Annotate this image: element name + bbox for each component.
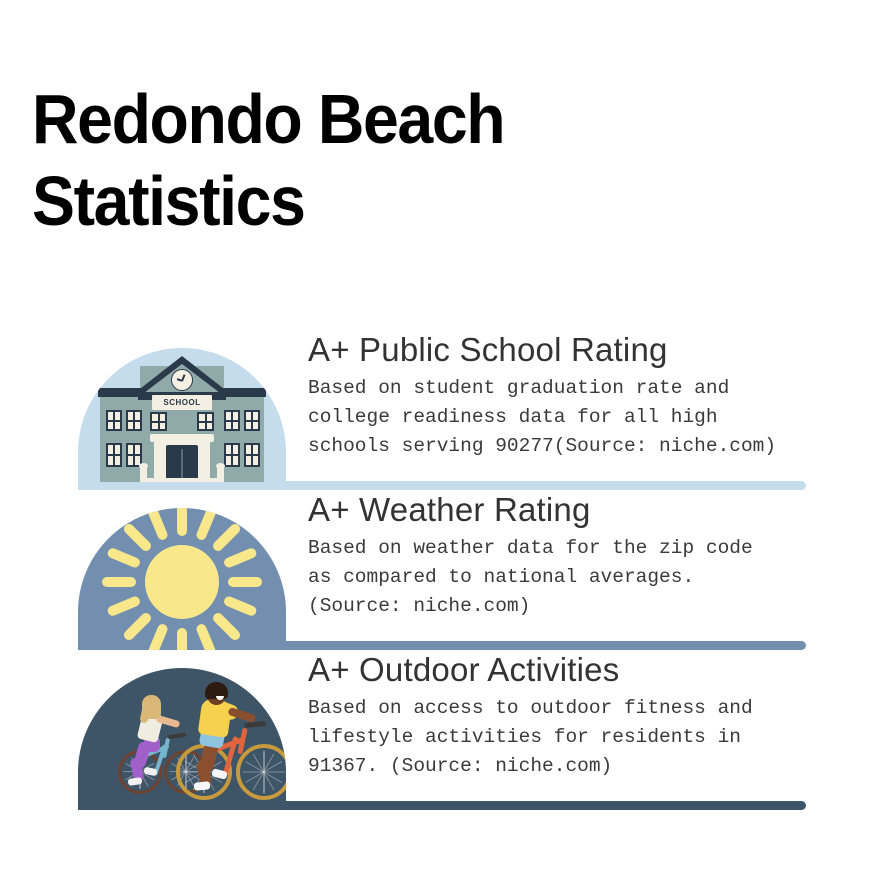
stat-description: Based on access to outdoor fitness and l… xyxy=(308,694,828,781)
page-title: Redondo Beach Statistics xyxy=(32,78,592,242)
sun-ray xyxy=(195,508,217,541)
sun-ray xyxy=(228,577,262,587)
sun-ray xyxy=(122,611,153,642)
sun-ray xyxy=(147,623,169,650)
sun-core xyxy=(145,545,219,619)
school-sign: SCHOOL xyxy=(152,395,212,410)
stat-text-outdoor-activities: A+ Outdoor Activities Based on access to… xyxy=(308,650,828,781)
sun-ray xyxy=(211,522,242,553)
school-sign-label: SCHOOL xyxy=(163,398,200,407)
sun-icon xyxy=(78,508,286,650)
sun-ray xyxy=(211,611,242,642)
stat-description: Based on weather data for the zip code a… xyxy=(308,534,828,621)
sun-ray xyxy=(106,595,141,617)
school-building-icon: SCHOOL xyxy=(78,348,286,490)
sun-ray xyxy=(177,628,187,650)
stat-text-public-school: A+ Public School Rating Based on student… xyxy=(308,330,828,461)
clock-icon xyxy=(171,369,193,391)
cyclists-icon xyxy=(78,668,286,810)
stat-text-weather: A+ Weather Rating Based on weather data … xyxy=(308,490,828,621)
sun-ray xyxy=(223,547,258,569)
stat-description: Based on student graduation rate and col… xyxy=(308,374,828,461)
stat-heading: A+ Outdoor Activities xyxy=(308,650,828,690)
page-title-line-2: Statistics xyxy=(32,160,547,242)
sun-ray xyxy=(223,595,258,617)
sun-ray xyxy=(147,508,169,541)
cyclist-right xyxy=(176,678,286,810)
infographic-page: Redondo Beach Statistics SCHOOL xyxy=(0,0,886,886)
sun-ray xyxy=(195,623,217,650)
sun-ray xyxy=(102,577,136,587)
sun-ray xyxy=(122,522,153,553)
stat-heading: A+ Public School Rating xyxy=(308,330,828,370)
sun-ray xyxy=(106,547,141,569)
bike-wheel xyxy=(236,744,286,800)
page-title-line-1: Redondo Beach xyxy=(32,78,547,160)
stat-heading: A+ Weather Rating xyxy=(308,490,828,530)
sun-ray xyxy=(177,508,187,536)
